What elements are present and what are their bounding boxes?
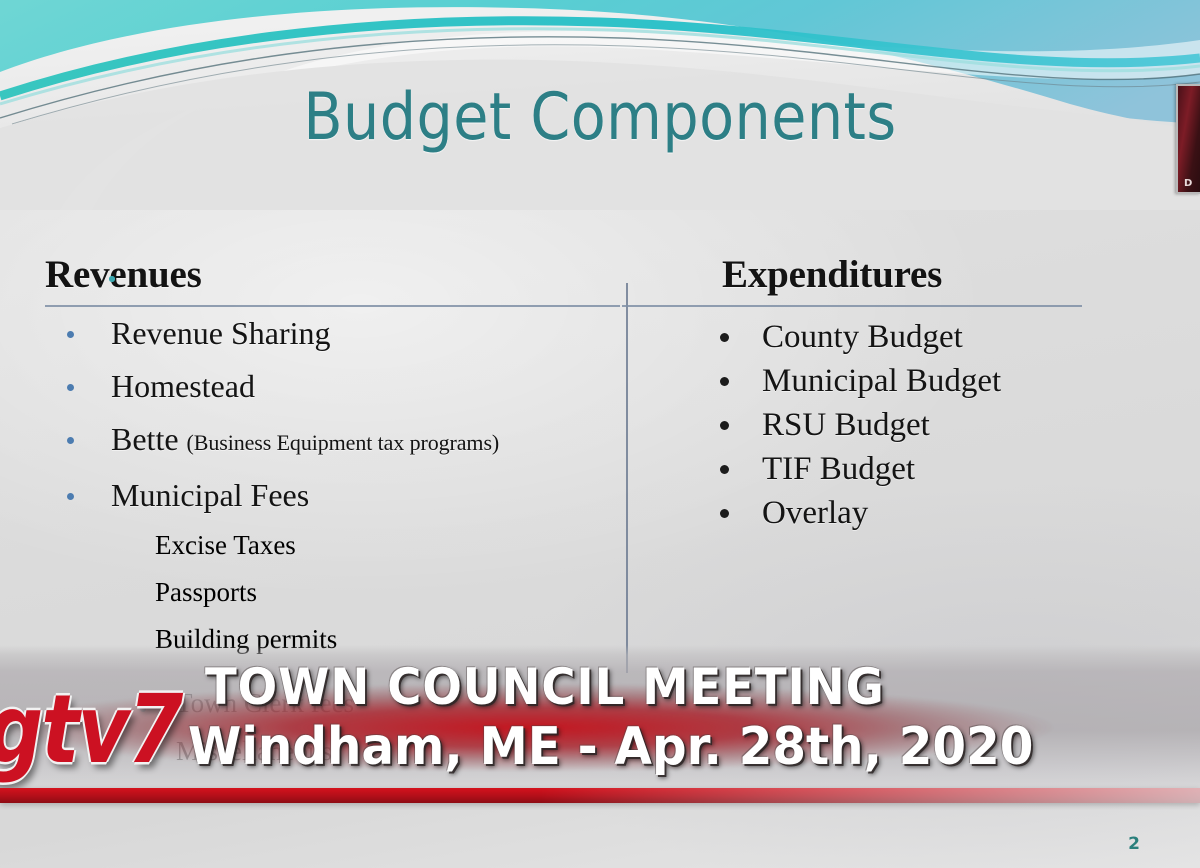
slide-title: Budget Components [72,80,1128,155]
list-item-label: Passports [155,577,257,607]
list-item: County Budget [622,315,1082,359]
bullet-dot-icon [67,437,74,444]
broadcast-lower-third: gtv7 TOWN COUNCIL MEETING Windham, ME - … [0,645,1200,810]
list-item-label: Revenue Sharing [111,315,331,351]
list-item: RSU Budget [622,403,1082,447]
list-item-label: Municipal Fees [111,477,309,513]
revenues-list: Revenue Sharing Homestead Bette (Busines… [45,307,620,522]
station-logo: gtv7 [0,675,181,785]
video-frame: Budget Components D Revenues Revenue Sha… [0,0,1200,868]
expenditures-heading: Expenditures [622,255,1082,296]
list-item: Bette (Business Equipment tax programs) [45,413,620,469]
bullet-dot-icon [67,384,74,391]
list-item-label: TIF Budget [762,451,915,487]
list-item: Municipal Fees [45,469,620,522]
list-item-label: Homestead [111,368,255,404]
expenditures-list: County Budget Municipal Budget RSU Budge… [622,307,1082,535]
list-item: Passports [45,569,620,616]
overlay-subtitle: Windham, ME - Apr. 28th, 2020 [188,717,1033,777]
revenues-sublist: Excise Taxes Passports Building permits [45,522,620,663]
bullet-dot-icon [720,465,729,474]
bullet-dot-icon [720,509,729,518]
revenues-heading: Revenues [45,255,620,296]
bullet-dot-icon [109,276,115,282]
bullet-dot-icon [67,331,74,338]
list-item-note: (Business Equipment tax programs) [187,430,500,455]
list-item: Excise Taxes [45,522,620,569]
list-item-label: Municipal Budget [762,363,1001,399]
expenditures-heading-rule [622,305,1082,307]
bullet-dot-icon [720,333,729,342]
overlay-title: TOWN COUNCIL MEETING [205,658,885,716]
list-item: Revenue Sharing [45,307,620,360]
column-revenues: Revenues Revenue Sharing Homestead Bette… [45,255,620,663]
list-item: Homestead [45,360,620,413]
list-item: Municipal Budget [622,359,1082,403]
list-item-label: County Budget [762,319,963,355]
list-item-label: Bette [111,421,179,457]
bullet-dot-icon [720,421,729,430]
bullet-dot-icon [720,377,729,386]
list-item-label: Overlay [762,495,868,531]
bullet-dot-icon [67,493,74,500]
list-item: Overlay [622,491,1082,535]
lower-third-red-bar-fade [0,788,1200,803]
list-item-label: Excise Taxes [155,530,296,560]
column-expenditures: Expenditures County Budget Municipal Bud… [622,255,1082,535]
edge-artifact-thumbnail: D [1176,84,1200,194]
list-item: TIF Budget [622,447,1082,491]
slide-page-number: 2 [1128,834,1140,854]
edge-artifact-glyph: D [1184,178,1192,189]
list-item-label: RSU Budget [762,407,930,443]
